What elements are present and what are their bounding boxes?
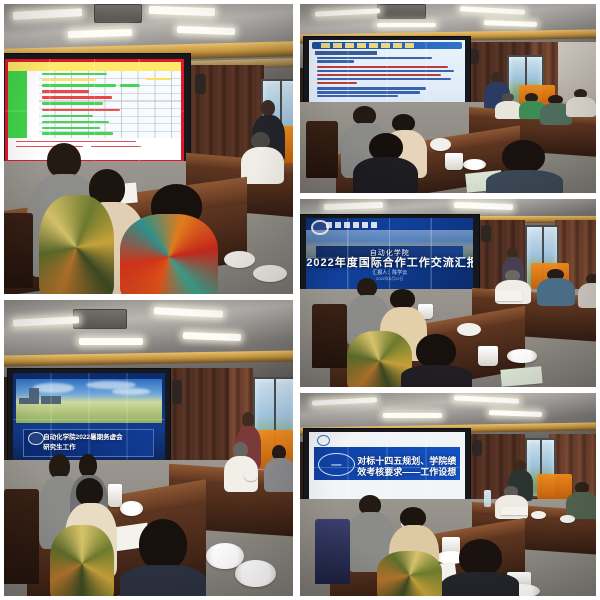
video-wall[interactable] [303, 36, 471, 110]
person-head [459, 539, 502, 576]
ac-vent-icon [377, 4, 426, 19]
video-wall-screen: 自动化学院 2022年度国际合作工作交流汇报 汇报人：陈学云 2022年8月22… [306, 218, 473, 298]
saucer [507, 349, 537, 362]
ac-vent-icon [94, 4, 142, 23]
slide-section-number: 一 [318, 453, 354, 476]
person-body [353, 157, 418, 193]
attendee-foreground-curly [442, 539, 519, 596]
slide-title: 自动化学院 2022年度国际合作工作交流汇报 汇报人：陈学云 2022年8月22… [306, 218, 473, 298]
spreadsheet-cell-highlight [42, 127, 100, 129]
spreadsheet-cell-highlight [146, 78, 172, 80]
teacup-lid [244, 469, 258, 481]
person-body [241, 147, 284, 184]
ac-vent-icon [73, 309, 127, 329]
teacup-lid [531, 511, 546, 519]
person-body [578, 283, 596, 308]
person-head [76, 478, 103, 506]
campus-photo [16, 379, 162, 423]
university-logo-text [326, 222, 379, 228]
slide-section-divider: 一 对标十四五规划、学院绩 效考核要求——工作设想 [309, 432, 465, 503]
meeting-room-scene: 一 对标十四五规划、学院绩 效考核要求——工作设想 [300, 393, 596, 596]
wall-speaker [481, 225, 491, 242]
spreadsheet-cell-highlight [42, 102, 103, 104]
slide-bullet-line [317, 66, 448, 69]
slide-bullet-line [317, 57, 432, 60]
person-body [486, 170, 563, 193]
ceiling-light [377, 23, 436, 28]
slide-campus-title: 自动化学院2022暑期务虚会 研究生工作 [13, 373, 165, 466]
person-head [416, 334, 456, 368]
teacup [445, 153, 463, 170]
campus-building [29, 388, 39, 403]
spreadsheet-grid [39, 71, 181, 139]
teacup-saucer [224, 251, 256, 268]
video-wall-screen: 一 对标十四五规划、学院绩 效考核要求——工作设想 [309, 432, 465, 503]
video-wall-screen [309, 40, 465, 106]
spreadsheet-cell-highlight [42, 109, 120, 111]
seated-attendee [578, 274, 596, 308]
attendee-foreground-right [486, 140, 563, 193]
meeting-room-scene [300, 4, 596, 193]
slide-caption-line2: 研究生工作 [43, 441, 156, 451]
slide-bullet-line [317, 95, 398, 98]
photo-collage: 自动化学院 2022年度国际合作工作交流汇报 汇报人：陈学云 2022年8月22… [0, 0, 600, 600]
spreadsheet-accent-column [8, 71, 28, 139]
teacup [478, 346, 499, 367]
seated-attendee [495, 93, 522, 119]
chair-back [315, 519, 351, 584]
campus-building [41, 396, 61, 404]
meeting-room-scene [4, 4, 293, 294]
person-body [377, 551, 442, 596]
chair-back [306, 121, 339, 178]
person-body [566, 97, 596, 117]
attendee-orange-scarf [120, 184, 218, 294]
seated-attendee [566, 482, 596, 519]
person-body [120, 214, 218, 294]
note-paper [495, 291, 522, 300]
saucer [120, 501, 143, 516]
person-head [353, 106, 376, 125]
person-head [514, 460, 526, 471]
slide-bullet-line [317, 70, 454, 73]
seated-attendee [241, 132, 284, 184]
panel-bottom-left[interactable]: 自动化学院2022暑期务虚会 研究生工作 [4, 300, 293, 596]
spreadsheet-cell-highlight [42, 115, 93, 117]
wall-speaker [195, 74, 207, 94]
teacup-lid [560, 515, 575, 523]
panel-top-left[interactable] [4, 4, 293, 294]
ceiling-light [183, 332, 241, 341]
spreadsheet-cell-highlight [42, 73, 107, 75]
slide-section-heading [315, 51, 377, 54]
attendee-dark-hair [353, 133, 418, 193]
person-body [442, 572, 519, 596]
slide-bullet-line [317, 87, 426, 90]
spreadsheet-cell-highlight [42, 84, 116, 86]
slide-bullet-line [317, 74, 442, 77]
panel-bottom-right[interactable]: 一 对标十四五规划、学院绩 效考核要求——工作设想 [300, 393, 596, 596]
meeting-room-scene: 自动化学院2022暑期务虚会 研究生工作 [4, 300, 293, 596]
spreadsheet-cell-highlight [42, 132, 113, 134]
attendee-floral-dress [377, 551, 442, 596]
person-head [49, 454, 70, 479]
ceiling-light [79, 338, 143, 345]
meeting-room-scene: 自动化学院 2022年度国际合作工作交流汇报 汇报人：陈学云 2022年8月22… [300, 199, 596, 387]
spreadsheet-cell-highlight [120, 84, 140, 86]
person-body [120, 565, 207, 596]
ceiling-light [383, 413, 442, 418]
person-body [401, 365, 472, 387]
saucer [235, 560, 275, 587]
slide-bullet-line [317, 78, 451, 81]
video-wall-screen: 自动化学院2022暑期务虚会 研究生工作 [13, 373, 165, 466]
slide-bullet-line [317, 82, 358, 85]
panel-top-right[interactable] [300, 4, 596, 193]
university-logo-icon [317, 435, 330, 446]
seated-attendee [537, 269, 575, 307]
person-body [537, 278, 575, 306]
seated-attendee [566, 89, 596, 117]
seated-attendee [224, 442, 259, 492]
person-head [392, 114, 415, 132]
chair-back [4, 489, 39, 584]
person-head [502, 140, 545, 173]
attendee-dark-hair [401, 334, 472, 387]
slide-main-title: 2022年度国际合作工作交流汇报 [306, 254, 473, 270]
person-head [139, 519, 188, 570]
person-body [264, 458, 293, 492]
seated-attendee [264, 445, 293, 492]
slide-bullet-line [317, 60, 354, 63]
person-head [79, 454, 97, 477]
wall-speaker [472, 440, 482, 456]
slide-title-bar [312, 42, 462, 49]
water-bottle [484, 490, 491, 506]
campus-building [19, 398, 29, 403]
person-head [242, 412, 254, 427]
attendee-foreground-curly [120, 519, 207, 596]
chair-back [312, 304, 348, 368]
person-body [495, 101, 522, 120]
chair-back [4, 213, 33, 288]
slide-section-line2: 效考核要求——工作设想 [357, 465, 457, 478]
spreadsheet-cell-highlight [42, 90, 89, 92]
slide-date: 2022年8月22日 [306, 276, 473, 282]
panel-middle-right[interactable]: 自动化学院 2022年度国际合作工作交流汇报 汇报人：陈学云 2022年8月22… [300, 199, 596, 387]
spreadsheet-cell-highlight [42, 96, 112, 98]
attendee-floral-dress [39, 195, 114, 294]
person-body [50, 525, 114, 596]
note-paper [501, 507, 528, 515]
spreadsheet-cell-highlight [42, 121, 109, 123]
spreadsheet-cell-highlight [42, 79, 96, 81]
person-body [39, 195, 114, 294]
attendee-floral-dress [50, 525, 114, 596]
slide-bulleted-text [309, 40, 465, 106]
person-head [261, 100, 275, 117]
wall-speaker [172, 380, 182, 404]
slide-bullet-line [317, 91, 420, 94]
